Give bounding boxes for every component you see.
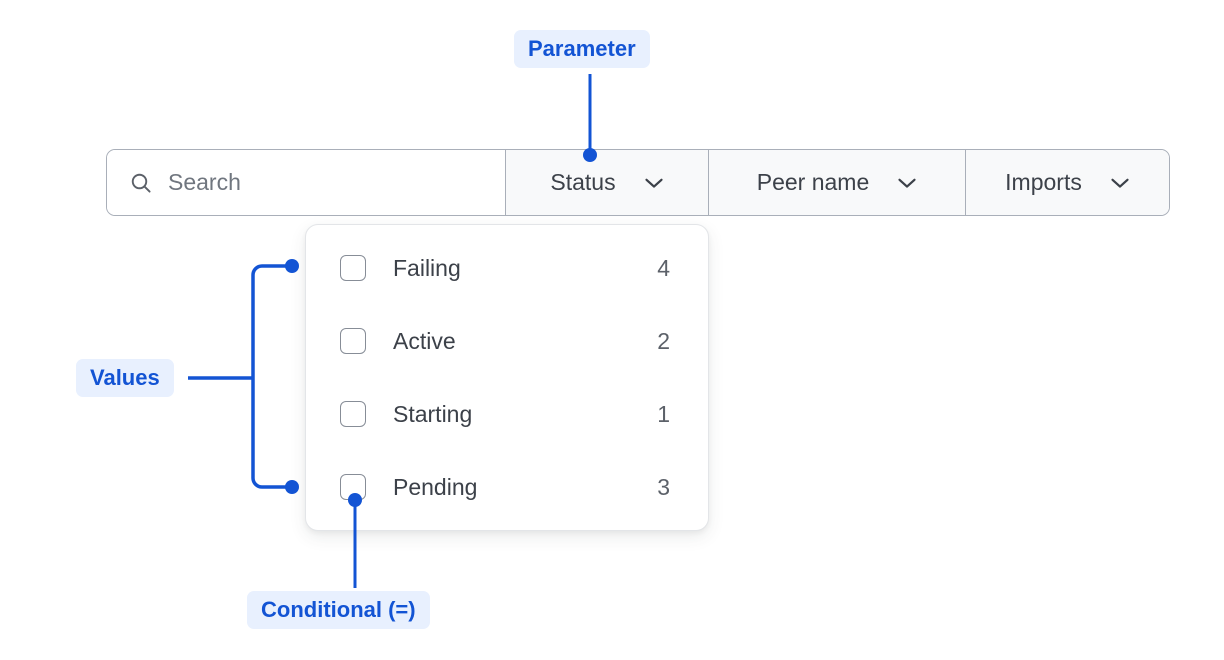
checkbox-starting[interactable] xyxy=(340,401,366,427)
chevron-down-icon xyxy=(644,177,664,189)
checkbox-pending[interactable] xyxy=(340,474,366,500)
dropdown-option-label: Active xyxy=(393,328,656,355)
connector-dot-values-top xyxy=(285,259,299,273)
checkbox-active[interactable] xyxy=(340,328,366,354)
status-dropdown-panel: Failing 4 Active 2 Starting 1 Pending 3 xyxy=(305,224,709,531)
filter-imports-label: Imports xyxy=(1005,169,1082,196)
search-icon xyxy=(129,171,153,195)
dropdown-option-count: 2 xyxy=(656,328,670,355)
checkbox-failing[interactable] xyxy=(340,255,366,281)
annotation-conditional: Conditional (=) xyxy=(247,591,430,629)
dropdown-option-label: Pending xyxy=(393,474,656,501)
filter-imports[interactable]: Imports xyxy=(966,150,1169,215)
dropdown-option-count: 3 xyxy=(656,474,670,501)
dropdown-option-count: 4 xyxy=(656,255,670,282)
filter-peer-name-label: Peer name xyxy=(757,169,870,196)
search-input[interactable] xyxy=(168,169,468,196)
filter-status-label: Status xyxy=(550,169,615,196)
dropdown-option-starting[interactable]: Starting 1 xyxy=(340,389,670,439)
chevron-down-icon xyxy=(897,177,917,189)
dropdown-option-label: Starting xyxy=(393,401,656,428)
filter-peer-name[interactable]: Peer name xyxy=(709,150,966,215)
dropdown-option-count: 1 xyxy=(656,401,670,428)
search-field[interactable] xyxy=(107,150,506,215)
annotation-values: Values xyxy=(76,359,174,397)
dropdown-option-label: Failing xyxy=(393,255,656,282)
dropdown-option-active[interactable]: Active 2 xyxy=(340,316,670,366)
filter-status[interactable]: Status xyxy=(506,150,709,215)
dropdown-option-failing[interactable]: Failing 4 xyxy=(340,243,670,293)
dropdown-option-pending[interactable]: Pending 3 xyxy=(340,462,670,512)
connector-dot-values-bottom xyxy=(285,480,299,494)
chevron-down-icon xyxy=(1110,177,1130,189)
connector-values-bracket xyxy=(253,266,288,487)
annotation-parameter: Parameter xyxy=(514,30,650,68)
filter-bar: Status Peer name Imports xyxy=(106,149,1170,216)
annotated-filter-diagram: Status Peer name Imports Failing 4 xyxy=(0,0,1224,660)
